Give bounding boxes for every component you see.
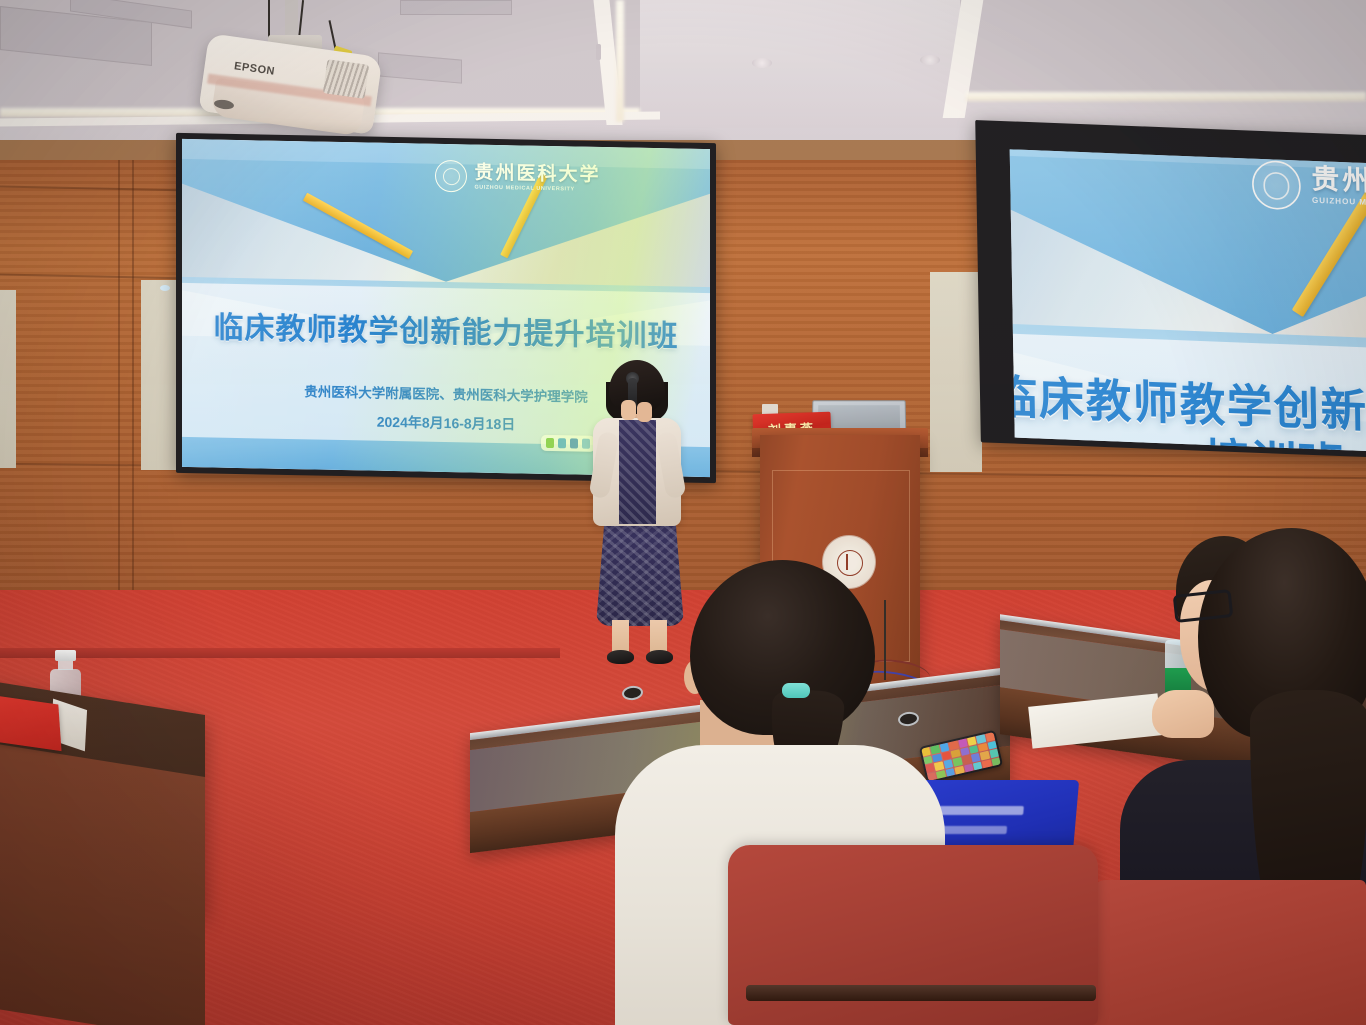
stage-edge [0, 648, 560, 658]
secondary-slide-canvas: 贵州医科大学 GUIZHOU MEDICAL UNIVERSITY 临床教师教学… [1010, 149, 1366, 452]
slide-university-logo: 贵州医科大学 GUIZHOU MEDICAL UNIVERSITY [435, 160, 600, 195]
ink-icon[interactable] [558, 438, 566, 448]
lecture-hall-photo: EPSON 贵州医科大学 GUIZHOU MEDICAL UNIV [0, 0, 1366, 1025]
hair-tie-icon [782, 683, 810, 698]
speaker-hand-left [621, 400, 636, 420]
wall-seam-v2 [132, 160, 134, 612]
ceiling-recess-right [960, 0, 1366, 100]
speaker-dress-bodice [619, 420, 656, 524]
speaker-leg-left [612, 620, 629, 654]
speaker-hand-right [637, 402, 652, 422]
bottle-cap [55, 650, 76, 661]
secondary-screen-frame: 贵州医科大学 GUIZHOU MEDICAL UNIVERSITY 临床教师教学… [975, 120, 1366, 458]
presentation-toolbar[interactable] [541, 434, 595, 451]
downlight-icon-2 [920, 55, 940, 65]
ac-vent-top [400, 0, 512, 15]
more-icon[interactable] [582, 438, 590, 448]
secondary-university-seal-icon [1251, 160, 1300, 211]
podium-cable-vertical [884, 600, 908, 680]
projector-vent-grille [323, 59, 369, 99]
speaker-shoe-right [646, 650, 673, 664]
wall-accent-strip-1 [141, 280, 179, 470]
downlight-icon-1 [752, 58, 772, 68]
secondary-slide-title: 临床教师教学创新能力提升培训班 [1010, 369, 1366, 452]
speaker-skirt [596, 516, 684, 626]
pointer-icon[interactable] [570, 438, 578, 448]
wall-seam-v1 [118, 160, 120, 612]
sprinkler-icon [596, 44, 601, 60]
wall-spot-icon [160, 285, 170, 291]
pen-icon[interactable] [546, 438, 554, 448]
projector-mount-pole [285, 0, 298, 40]
wall-accent-strip-2 [0, 290, 16, 468]
speaker-leg-right [650, 620, 667, 654]
logo-chinese-name: 贵州医科大学 [474, 162, 600, 185]
chair-front-frame-bar [746, 985, 1096, 1001]
red-name-card[interactable] [0, 695, 62, 751]
university-seal-icon [435, 160, 467, 193]
cove-light-center [616, 0, 624, 122]
foreground-table-front [0, 743, 205, 1025]
speaker-shoe-left [607, 650, 634, 664]
audience-right-hand [1152, 690, 1214, 738]
chair-right[interactable] [1090, 880, 1366, 1025]
wall-accent-strip-3 [930, 272, 982, 472]
cove-light-right [966, 92, 1366, 101]
secondary-projection-screen[interactable]: 贵州医科大学 GUIZHOU MEDICAL UNIVERSITY 临床教师教学… [1010, 149, 1366, 452]
